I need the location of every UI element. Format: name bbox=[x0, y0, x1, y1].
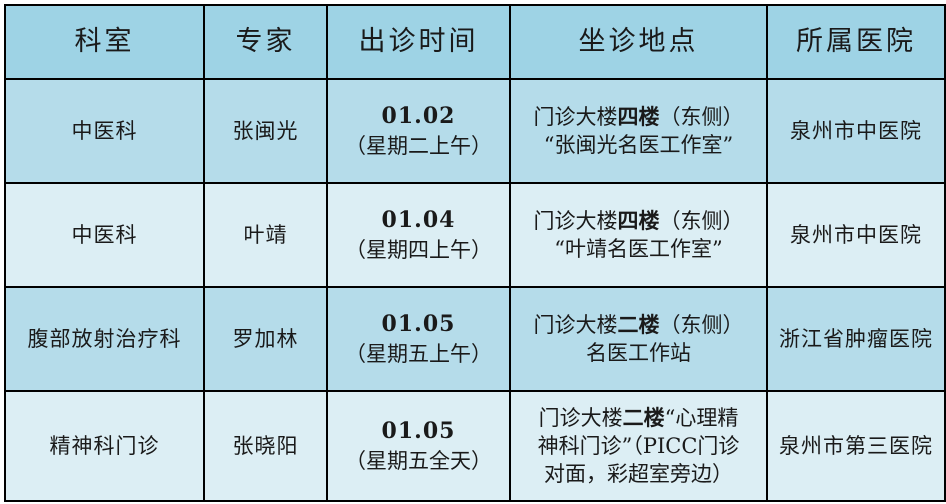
cell-expert: 叶靖 bbox=[204, 183, 327, 287]
cell-department: 中医科 bbox=[5, 79, 204, 183]
clinic-location-line: 门诊大楼四楼（东侧） bbox=[515, 207, 762, 235]
visit-date: 01.04 bbox=[332, 206, 505, 235]
table-row: 腹部放射治疗科罗加林01.05（星期五上午）门诊大楼二楼（东侧）名医工作站浙江省… bbox=[5, 287, 945, 391]
visit-weekday: （星期二上午） bbox=[332, 132, 505, 160]
cell-hospital: 泉州市中医院 bbox=[767, 79, 945, 183]
table-header-row: 科室 专家 出诊时间 坐诊地点 所属医院 bbox=[5, 5, 945, 79]
clinic-location-line: 门诊大楼二楼（东侧） bbox=[515, 311, 762, 339]
cell-clinic-location: 门诊大楼四楼（东侧）“叶靖名医工作室” bbox=[510, 183, 767, 287]
column-header-hospital: 所属医院 bbox=[767, 5, 945, 79]
table-row: 中医科叶靖01.04（星期四上午）门诊大楼四楼（东侧）“叶靖名医工作室”泉州市中… bbox=[5, 183, 945, 287]
clinic-location-line: “叶靖名医工作室” bbox=[515, 235, 762, 263]
cell-clinic-location: 门诊大楼二楼（东侧）名医工作站 bbox=[510, 287, 767, 391]
cell-department: 腹部放射治疗科 bbox=[5, 287, 204, 391]
expert-outpatient-schedule-table: 科室 专家 出诊时间 坐诊地点 所属医院 中医科张闽光01.02（星期二上午）门… bbox=[4, 4, 946, 502]
clinic-location-floor: 四楼 bbox=[618, 104, 660, 129]
visit-weekday: （星期五全天） bbox=[332, 447, 505, 475]
cell-visit-time: 01.02（星期二上午） bbox=[327, 79, 510, 183]
clinic-location-line: 名医工作站 bbox=[515, 339, 762, 367]
visit-date: 01.05 bbox=[332, 417, 505, 446]
cell-visit-time: 01.05（星期五上午） bbox=[327, 287, 510, 391]
column-header-clinic-location: 坐诊地点 bbox=[510, 5, 767, 79]
table-row: 中医科张闽光01.02（星期二上午）门诊大楼四楼（东侧）“张闽光名医工作室”泉州… bbox=[5, 79, 945, 183]
clinic-location-line: 门诊大楼四楼（东侧） bbox=[515, 103, 762, 131]
visit-date: 01.05 bbox=[332, 310, 505, 339]
visit-date: 01.02 bbox=[332, 102, 505, 131]
clinic-location-floor: 二楼 bbox=[618, 312, 660, 337]
clinic-location-line: “张闽光名医工作室” bbox=[515, 131, 762, 159]
cell-department: 中医科 bbox=[5, 183, 204, 287]
clinic-location-floor: 二楼 bbox=[623, 405, 665, 430]
clinic-location-line: 对面，彩超室旁边） bbox=[515, 460, 762, 488]
cell-expert: 张闽光 bbox=[204, 79, 327, 183]
table-row: 精神科门诊张晓阳01.05（星期五全天）门诊大楼二楼“心理精神科门诊”（PICC… bbox=[5, 391, 945, 501]
cell-hospital: 泉州市中医院 bbox=[767, 183, 945, 287]
cell-visit-time: 01.05（星期五全天） bbox=[327, 391, 510, 501]
visit-weekday: （星期五上午） bbox=[332, 340, 505, 368]
visit-weekday: （星期四上午） bbox=[332, 236, 505, 264]
cell-clinic-location: 门诊大楼四楼（东侧）“张闽光名医工作室” bbox=[510, 79, 767, 183]
cell-visit-time: 01.04（星期四上午） bbox=[327, 183, 510, 287]
cell-expert: 张晓阳 bbox=[204, 391, 327, 501]
cell-clinic-location: 门诊大楼二楼“心理精神科门诊”（PICC门诊对面，彩超室旁边） bbox=[510, 391, 767, 501]
column-header-visit-time: 出诊时间 bbox=[327, 5, 510, 79]
cell-expert: 罗加林 bbox=[204, 287, 327, 391]
clinic-location-line: 门诊大楼二楼“心理精 bbox=[515, 404, 762, 432]
clinic-location-line: 神科门诊”（PICC门诊 bbox=[515, 432, 762, 460]
cell-hospital: 泉州市第三医院 bbox=[767, 391, 945, 501]
column-header-department: 科室 bbox=[5, 5, 204, 79]
column-header-expert: 专家 bbox=[204, 5, 327, 79]
cell-department: 精神科门诊 bbox=[5, 391, 204, 501]
cell-hospital: 浙江省肿瘤医院 bbox=[767, 287, 945, 391]
clinic-location-floor: 四楼 bbox=[618, 208, 660, 233]
